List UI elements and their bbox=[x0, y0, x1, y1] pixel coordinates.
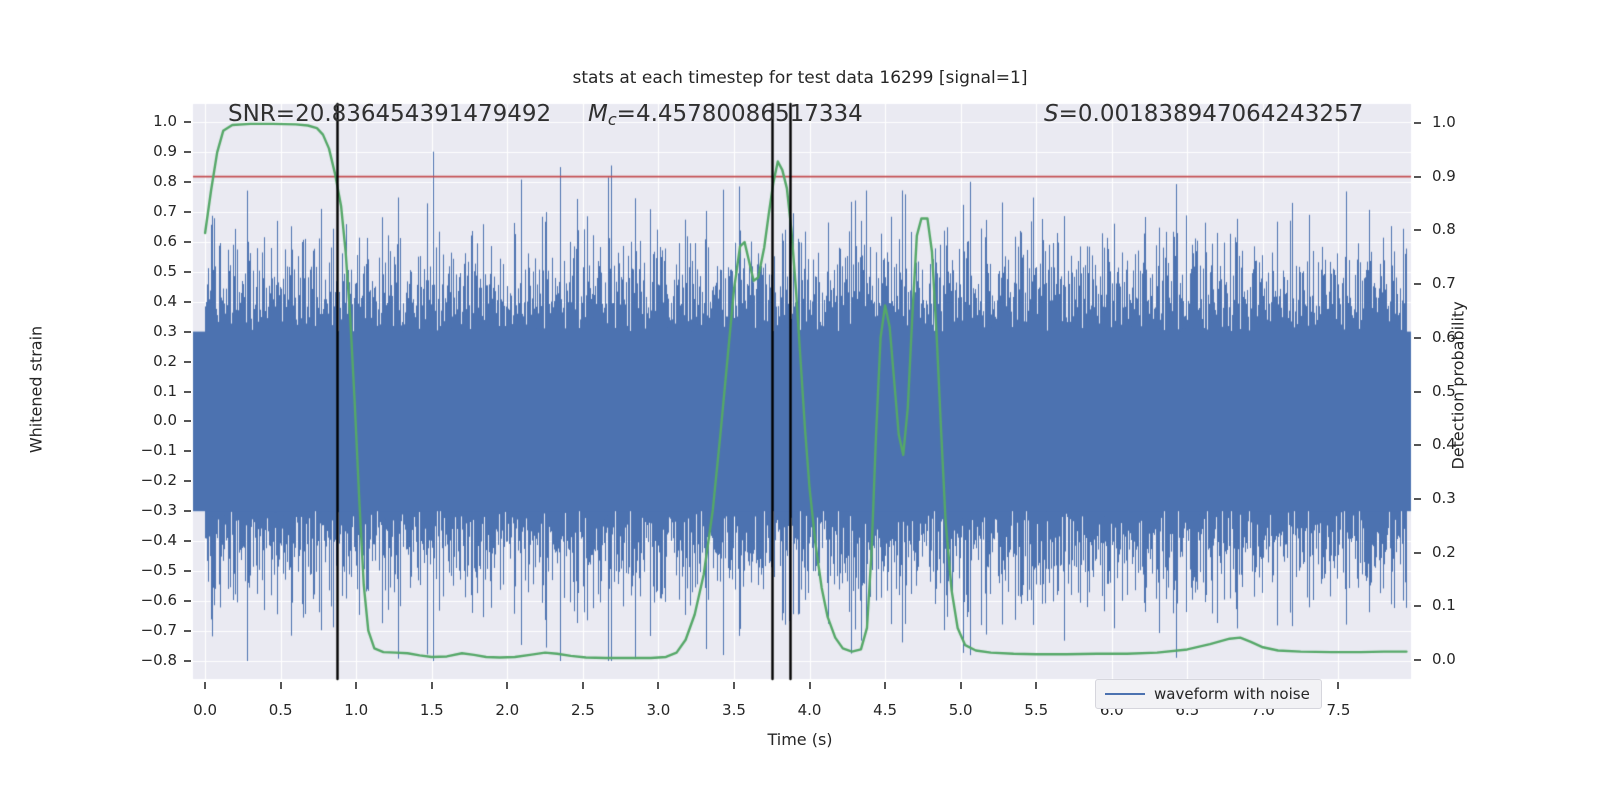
y-tick-right: 0.3 bbox=[1432, 489, 1492, 507]
x-tick: 0.0 bbox=[170, 701, 240, 719]
y-tick-mark-right bbox=[1414, 337, 1421, 339]
y-tick-mark-left bbox=[184, 151, 191, 153]
y-tick-left: 0.3 bbox=[117, 322, 177, 340]
y-tick-mark-left bbox=[184, 301, 191, 303]
y-tick-mark-right bbox=[1414, 605, 1421, 607]
y-tick-left: −0.8 bbox=[117, 651, 177, 669]
y-tick-mark-right bbox=[1414, 229, 1421, 231]
y-tick-left: 0.0 bbox=[117, 411, 177, 429]
y-tick-mark-right bbox=[1414, 659, 1421, 661]
annotation-s-value: 0.001838947064243257 bbox=[1078, 101, 1363, 127]
x-tick: 2.0 bbox=[472, 701, 542, 719]
x-tick-mark bbox=[1337, 682, 1339, 689]
x-tick-mark bbox=[960, 682, 962, 689]
y-tick-mark-left bbox=[184, 211, 191, 213]
x-tick: 3.5 bbox=[699, 701, 769, 719]
y-tick-mark-left bbox=[184, 181, 191, 183]
y-tick-mark-right bbox=[1414, 122, 1421, 124]
x-tick-mark bbox=[204, 682, 206, 689]
x-tick: 5.0 bbox=[926, 701, 996, 719]
x-tick-mark bbox=[733, 682, 735, 689]
x-tick-mark bbox=[431, 682, 433, 689]
x-tick: 2.5 bbox=[548, 701, 618, 719]
annotation-chirp-mass: Mc=4.45780086517334 bbox=[588, 101, 863, 129]
x-tick-mark bbox=[884, 682, 886, 689]
x-tick: 4.5 bbox=[850, 701, 920, 719]
y-tick-right: 0.7 bbox=[1432, 274, 1492, 292]
y-tick-left: −0.4 bbox=[117, 531, 177, 549]
x-tick-mark bbox=[1035, 682, 1037, 689]
x-tick: 3.0 bbox=[623, 701, 693, 719]
annotation-mc-variable: M bbox=[588, 101, 608, 127]
x-tick-mark bbox=[809, 682, 811, 689]
x-tick-mark bbox=[582, 682, 584, 689]
legend-line-waveform bbox=[1105, 693, 1145, 695]
annotation-snr: SNR=20.836454391479492 bbox=[228, 101, 551, 127]
x-tick: 1.5 bbox=[397, 701, 467, 719]
x-tick-mark bbox=[506, 682, 508, 689]
y-tick-mark-right bbox=[1414, 391, 1421, 393]
y-tick-mark-right bbox=[1414, 552, 1421, 554]
y-tick-mark-left bbox=[184, 391, 191, 393]
x-tick: 4.0 bbox=[775, 701, 845, 719]
legend: waveform with noise bbox=[1095, 679, 1322, 709]
y-tick-mark-right bbox=[1414, 283, 1421, 285]
y-tick-mark-left bbox=[184, 450, 191, 452]
y-tick-left: −0.1 bbox=[117, 441, 177, 459]
y-tick-mark-left bbox=[184, 271, 191, 273]
y-tick-left: 0.9 bbox=[117, 142, 177, 160]
y-tick-left: 0.6 bbox=[117, 232, 177, 250]
y-tick-right: 0.5 bbox=[1432, 382, 1492, 400]
y-tick-left: −0.3 bbox=[117, 501, 177, 519]
page-title: stats at each timestep for test data 162… bbox=[0, 68, 1600, 88]
figure-container: stats at each timestep for test data 162… bbox=[0, 0, 1600, 800]
y-tick-left: 0.7 bbox=[117, 202, 177, 220]
y-tick-mark-left bbox=[184, 600, 191, 602]
annotation-s-prefix: = bbox=[1059, 101, 1078, 127]
y-tick-left: −0.6 bbox=[117, 591, 177, 609]
y-tick-mark-left bbox=[184, 331, 191, 333]
y-tick-left: −0.2 bbox=[117, 471, 177, 489]
y-tick-left: 0.1 bbox=[117, 382, 177, 400]
y-tick-mark-left bbox=[184, 660, 191, 662]
y-tick-right: 0.2 bbox=[1432, 543, 1492, 561]
annotation-significance: S=0.001838947064243257 bbox=[1044, 101, 1363, 127]
y-tick-left: 0.4 bbox=[117, 292, 177, 310]
legend-label-waveform: waveform with noise bbox=[1154, 685, 1310, 703]
x-axis-label: Time (s) bbox=[0, 730, 1600, 749]
y-tick-mark-left bbox=[184, 570, 191, 572]
y-axis-label-left: Whitened strain bbox=[27, 310, 46, 470]
x-tick: 0.5 bbox=[246, 701, 316, 719]
y-tick-left: −0.7 bbox=[117, 621, 177, 639]
y-tick-right: 1.0 bbox=[1432, 113, 1492, 131]
y-tick-right: 0.4 bbox=[1432, 435, 1492, 453]
x-tick-mark bbox=[657, 682, 659, 689]
y-tick-right: 0.1 bbox=[1432, 596, 1492, 614]
y-tick-mark-left bbox=[184, 361, 191, 363]
y-tick-mark-right bbox=[1414, 176, 1421, 178]
y-tick-left: 0.2 bbox=[117, 352, 177, 370]
y-tick-left: −0.5 bbox=[117, 561, 177, 579]
annotation-mc-value: 4.45780086517334 bbox=[636, 101, 863, 127]
y-tick-left: 0.5 bbox=[117, 262, 177, 280]
y-tick-left: 1.0 bbox=[117, 112, 177, 130]
y-tick-left: 0.8 bbox=[117, 172, 177, 190]
y-tick-mark-left bbox=[184, 510, 191, 512]
y-tick-mark-left bbox=[184, 540, 191, 542]
y-tick-right: 0.8 bbox=[1432, 220, 1492, 238]
y-tick-right: 0.9 bbox=[1432, 167, 1492, 185]
annotation-snr-prefix: SNR= bbox=[228, 101, 295, 127]
y-tick-right: 0.0 bbox=[1432, 650, 1492, 668]
y-tick-mark-left bbox=[184, 121, 191, 123]
annotation-mc-prefix: = bbox=[617, 101, 636, 127]
y-tick-right: 0.6 bbox=[1432, 328, 1492, 346]
annotation-snr-value: 20.836454391479492 bbox=[295, 101, 551, 127]
y-tick-mark-left bbox=[184, 420, 191, 422]
x-tick-mark bbox=[280, 682, 282, 689]
y-tick-mark-right bbox=[1414, 444, 1421, 446]
x-tick: 1.0 bbox=[321, 701, 391, 719]
annotation-mc-subscript: c bbox=[608, 110, 617, 129]
y-tick-mark-left bbox=[184, 241, 191, 243]
annotation-s-variable: S bbox=[1044, 101, 1059, 127]
x-tick-mark bbox=[355, 682, 357, 689]
y-tick-mark-right bbox=[1414, 498, 1421, 500]
x-tick: 5.5 bbox=[1001, 701, 1071, 719]
y-tick-mark-left bbox=[184, 480, 191, 482]
y-tick-mark-left bbox=[184, 630, 191, 632]
